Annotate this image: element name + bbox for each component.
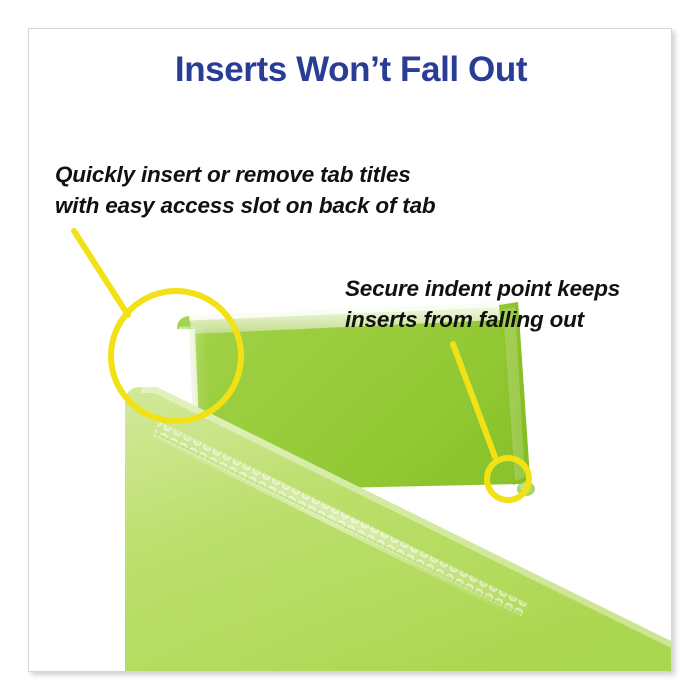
indent-point (517, 482, 535, 496)
annotation-access-slot-line1: Quickly insert or remove tab titles (55, 159, 435, 190)
annotation-access-slot: Quickly insert or remove tab titles with… (55, 159, 435, 221)
product-photo (29, 29, 672, 672)
page-title: Inserts Won’t Fall Out (29, 51, 672, 90)
annotation-indent-point: Secure indent point keeps inserts from f… (345, 273, 620, 335)
annotation-indent-point-line2: inserts from falling out (345, 304, 620, 335)
annotation-indent-point-line1: Secure indent point keeps (345, 273, 620, 304)
annotation-access-slot-line2: with easy access slot on back of tab (55, 190, 435, 221)
product-feature-card: Inserts Won’t Fall Out Quickly insert or… (28, 28, 672, 672)
screenshot-root: Inserts Won’t Fall Out Quickly insert or… (0, 0, 700, 700)
